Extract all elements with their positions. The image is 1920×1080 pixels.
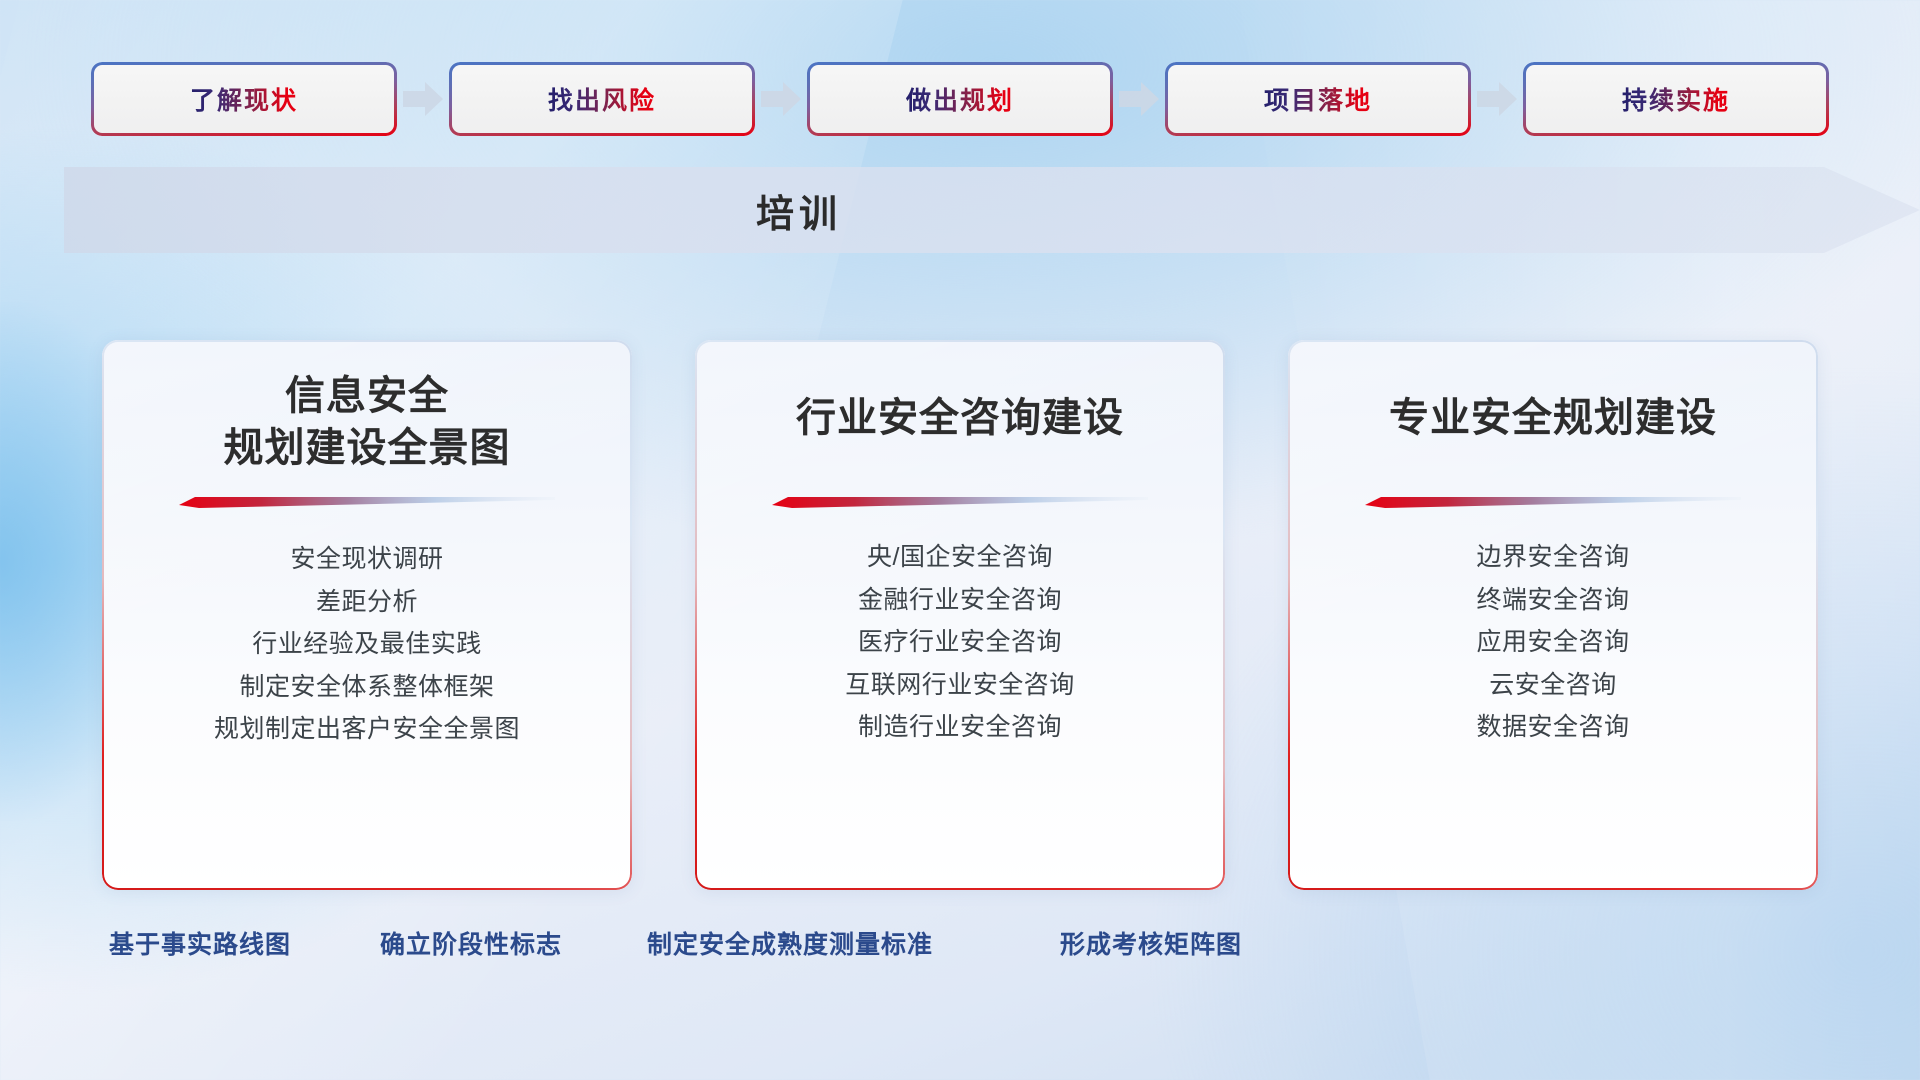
step-box-5[interactable]: 持续实施 [1523,62,1829,136]
step-box-3[interactable]: 做出规划 [807,62,1113,136]
step-arrow-1 [397,62,449,136]
card-list-item: 行业经验及最佳实践 [252,623,482,666]
card-title: 专业安全规划建设 [1389,392,1717,444]
card-list-item: 医疗行业安全咨询 [858,621,1062,664]
card-list-item: 终端安全咨询 [1476,579,1629,622]
card-divider [179,494,555,508]
card-divider [772,494,1148,508]
arrow-right-icon [761,82,801,116]
card-list-item: 制造行业安全咨询 [858,706,1062,749]
step-label: 了解现状 [190,81,298,117]
step-box-4[interactable]: 项目落地 [1165,62,1471,136]
card-1[interactable]: 信息安全 规划建设全景图 安全现状调研差距分析行业经验及最佳实践制定安全体系整体… [102,340,632,890]
step-arrow-2 [755,62,807,136]
footer-label-2: 确立阶段性标志 [380,925,562,961]
card-list-item: 安全现状调研 [290,538,443,581]
card-list-item: 规划制定出客户安全全景图 [214,708,520,751]
step-arrow-4 [1471,62,1523,136]
step-arrow-3 [1113,62,1165,136]
card-3[interactable]: 专业安全规划建设 边界安全咨询终端安全咨询应用安全咨询云安全咨询数据安全咨询 [1288,340,1818,890]
card-list-item: 边界安全咨询 [1476,536,1629,579]
card-list-item: 数据安全咨询 [1476,706,1629,749]
step-label: 项目落地 [1264,81,1372,117]
arrow-right-icon [1477,82,1517,116]
step-box-2[interactable]: 找出风险 [449,62,755,136]
card-divider [1365,494,1741,508]
arrow-right-icon [403,82,443,116]
card-list-item: 金融行业安全咨询 [858,579,1062,622]
card-list-item: 云安全咨询 [1489,664,1617,707]
card-2[interactable]: 行业安全咨询建设 央/国企安全咨询金融行业安全咨询医疗行业安全咨询互联网行业安全… [695,340,1225,890]
card-title: 信息安全 规划建设全景图 [224,370,511,474]
card-list: 央/国企安全咨询金融行业安全咨询医疗行业安全咨询互联网行业安全咨询制造行业安全咨… [845,536,1075,749]
card-list-item: 央/国企安全咨询 [867,536,1053,579]
card-list-item: 制定安全体系整体框架 [239,666,494,709]
card-title: 行业安全咨询建设 [796,392,1124,444]
card-list: 安全现状调研差距分析行业经验及最佳实践制定安全体系整体框架规划制定出客户安全全景… [214,538,520,751]
step-box-1[interactable]: 了解现状 [91,62,397,136]
step-label: 做出规划 [906,81,1014,117]
footer-label-4: 形成考核矩阵图 [1060,925,1242,961]
card-row: 信息安全 规划建设全景图 安全现状调研差距分析行业经验及最佳实践制定安全体系整体… [0,340,1920,895]
card-list-item: 差距分析 [316,581,418,624]
process-step-row: 了解现状 找出风险 做出规划 项目落地 持续实施 [0,61,1920,137]
card-list-item: 应用安全咨询 [1476,621,1629,664]
training-banner: 培训 [64,167,1920,253]
card-list-item: 互联网行业安全咨询 [845,664,1075,707]
footer-label-1: 基于事实路线图 [109,925,291,961]
step-label: 找出风险 [548,81,656,117]
footer-label-row: 基于事实路线图确立阶段性标志制定安全成熟度测量标准形成考核矩阵图 [0,925,1920,969]
card-list: 边界安全咨询终端安全咨询应用安全咨询云安全咨询数据安全咨询 [1476,536,1629,749]
step-label: 持续实施 [1622,81,1730,117]
banner-title: 培训 [64,167,1534,253]
footer-label-3: 制定安全成熟度测量标准 [647,925,933,961]
arrow-right-icon [1119,82,1159,116]
